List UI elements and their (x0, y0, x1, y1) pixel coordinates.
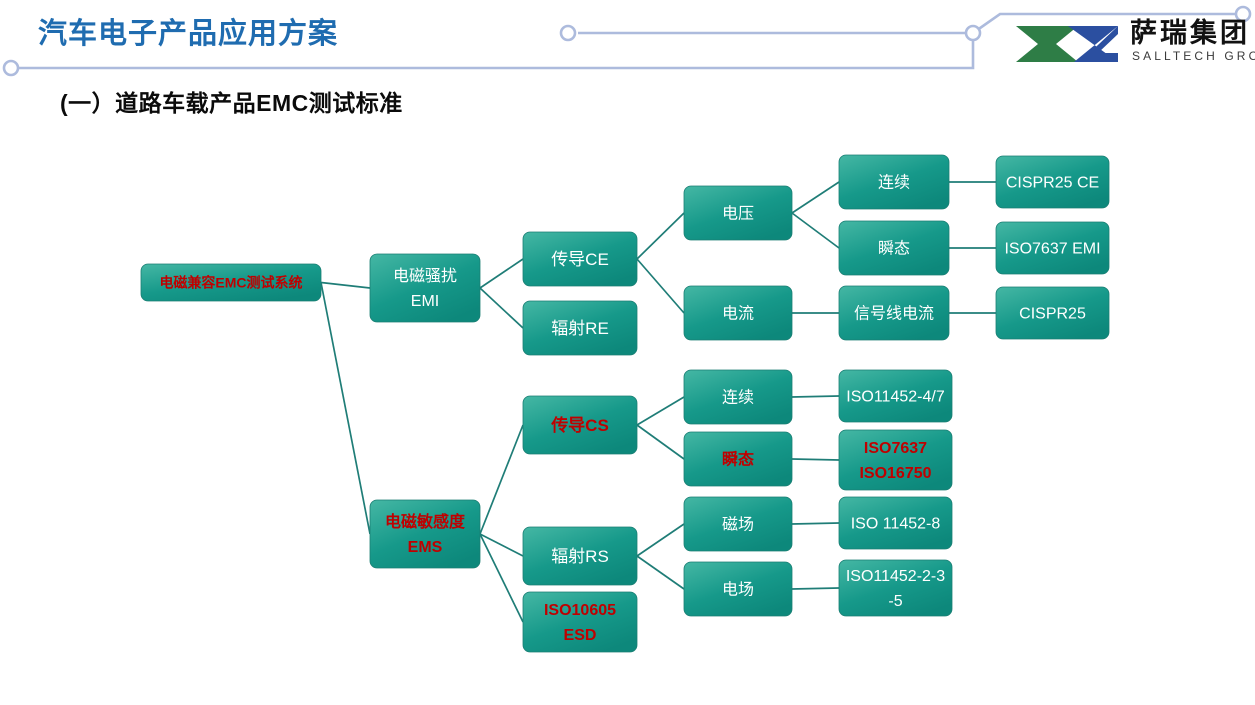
diagram-node-cont-cs[interactable]: 连续 (684, 370, 792, 424)
node-box (523, 232, 637, 286)
logo-text-cn: 萨瑞集团 (1130, 18, 1250, 49)
connector-voltage-to-trans-emi (792, 213, 839, 248)
emc-test-tree-diagram: 电磁兼容EMC测试系统电磁骚扰EMI电磁敏感度EMS传导CE辐射RE传导CS辐射… (0, 120, 1255, 680)
node-box (684, 370, 792, 424)
node-box (523, 396, 637, 454)
connector-voltage-to-cont-emi (792, 182, 839, 213)
diagram-node-iso11452-8[interactable]: ISO 11452-8 (839, 497, 952, 549)
node-box (684, 562, 792, 616)
diagram-node-iso7637emi[interactable]: ISO7637 EMI (996, 222, 1109, 274)
diagram-node-cispr25[interactable]: CISPR25 (996, 287, 1109, 339)
diagram-node-root[interactable]: 电磁兼容EMC测试系统 (141, 264, 321, 301)
connector-cs-to-trans-cs (637, 425, 684, 459)
diagram-node-current[interactable]: 电流 (684, 286, 792, 340)
connector-emi-to-re (480, 288, 523, 328)
connector-emi-to-ce (480, 259, 523, 288)
diagram-node-iso11452-47[interactable]: ISO11452-4/7 (839, 370, 952, 422)
salltech-logo-icon (1012, 22, 1124, 66)
diagram-node-cont-emi[interactable]: 连续 (839, 155, 949, 209)
node-box (684, 497, 792, 551)
diagram-node-sigline[interactable]: 信号线电流 (839, 286, 949, 340)
connector-ems-to-cs (480, 425, 523, 534)
diagram-node-ems[interactable]: 电磁敏感度EMS (370, 500, 480, 568)
node-box (839, 286, 949, 340)
diagram-node-iso7637-16750[interactable]: ISO7637ISO16750 (839, 430, 952, 490)
connector-magfield-to-iso11452-8 (792, 523, 839, 524)
connector-trans-cs-to-iso7637-16750 (792, 459, 839, 460)
diagram-node-ce[interactable]: 传导CE (523, 232, 637, 286)
node-box (370, 500, 480, 568)
diagram-node-esd[interactable]: ISO10605ESD (523, 592, 637, 652)
diagram-node-emi[interactable]: 电磁骚扰EMI (370, 254, 480, 322)
connector-rs-to-magfield (637, 524, 684, 556)
node-box (996, 156, 1109, 208)
node-box (684, 432, 792, 486)
diagram-node-elecfield[interactable]: 电场 (684, 562, 792, 616)
page-title: 汽车电子产品应用方案 (38, 16, 338, 52)
diagram-node-re[interactable]: 辐射RE (523, 301, 637, 355)
connector-elecfield-to-iso11452-235 (792, 588, 839, 589)
connector-ce-to-current (637, 259, 684, 313)
connector-cs-to-cont-cs (637, 397, 684, 425)
diagram-node-rs[interactable]: 辐射RS (523, 527, 637, 585)
connector-rs-to-elecfield (637, 556, 684, 589)
node-box (684, 286, 792, 340)
diagram-node-magfield[interactable]: 磁场 (684, 497, 792, 551)
diagram-node-trans-cs[interactable]: 瞬态 (684, 432, 792, 486)
node-box (839, 221, 949, 275)
node-box (839, 560, 952, 616)
diagram-node-iso11452-235[interactable]: ISO11452-2-3-5 (839, 560, 952, 616)
node-box (523, 592, 637, 652)
connector-ems-to-esd (480, 534, 523, 622)
node-box (839, 370, 952, 422)
node-box (141, 264, 321, 301)
node-box (523, 301, 637, 355)
node-box (370, 254, 480, 322)
company-logo: 萨瑞集团 SALLTECH GROUP (1012, 20, 1248, 68)
node-box (839, 430, 952, 490)
node-box (523, 527, 637, 585)
node-box (839, 155, 949, 209)
connector-ems-to-rs (480, 534, 523, 556)
connector-cont-cs-to-iso11452-47 (792, 396, 839, 397)
node-box (839, 497, 952, 549)
connector-root-to-emi (321, 283, 370, 289)
diagram-node-cs[interactable]: 传导CS (523, 396, 637, 454)
logo-text-en: SALLTECH GROUP (1132, 49, 1255, 63)
slide-canvas: 汽车电子产品应用方案 (一）道路车载产品EMC测试标准 萨瑞集团 SALLTEC… (0, 0, 1255, 705)
diagram-node-voltage[interactable]: 电压 (684, 186, 792, 240)
node-layer: 电磁兼容EMC测试系统电磁骚扰EMI电磁敏感度EMS传导CE辐射RE传导CS辐射… (141, 155, 1109, 652)
connector-ce-to-voltage (637, 213, 684, 259)
node-box (996, 222, 1109, 274)
node-box (684, 186, 792, 240)
diagram-node-trans-emi[interactable]: 瞬态 (839, 221, 949, 275)
connector-root-to-ems (321, 283, 370, 535)
diagram-node-cispr25ce[interactable]: CISPR25 CE (996, 156, 1109, 208)
section-heading: (一）道路车载产品EMC测试标准 (60, 87, 403, 119)
node-box (996, 287, 1109, 339)
